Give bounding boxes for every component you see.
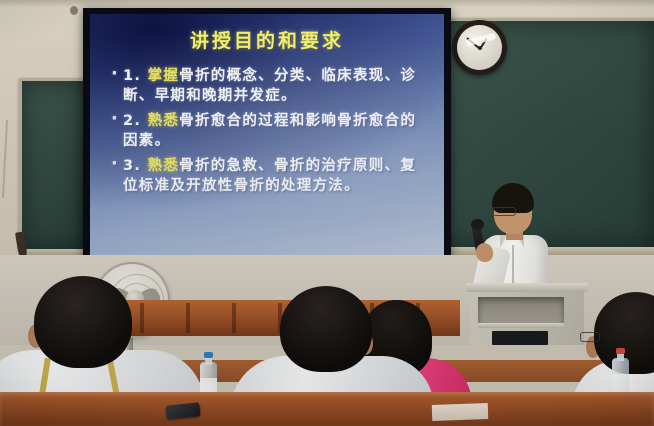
audience-right-glasses [580, 332, 600, 342]
podium [466, 283, 588, 345]
bottle-cap [616, 348, 625, 354]
presentation-slide: 讲授目的和要求 1. 掌握骨折的概念、分类、临床表现、诊断、早期和晚期并发症。 … [90, 14, 444, 258]
slide-bullet-1: 1. 掌握骨折的概念、分类、临床表现、诊断、早期和晚期并发症。 [109, 66, 429, 106]
laptop [492, 331, 548, 345]
podium-top [466, 283, 588, 292]
audience-left-hair [34, 276, 132, 368]
bullet-3-highlight: 熟悉 [148, 158, 180, 174]
chalkboard-left [19, 78, 88, 252]
bullet-3-number: 3. [123, 158, 141, 174]
paper-sheet [432, 403, 489, 421]
wall-fixture [70, 6, 78, 15]
audience-center-hair [280, 286, 372, 372]
lecturer-glasses [492, 207, 516, 216]
projection-screen: 讲授目的和要求 1. 掌握骨折的概念、分类、临床表现、诊断、早期和晚期并发症。 … [83, 8, 451, 264]
bullet-2-number: 2. [123, 113, 141, 129]
microphone-head [471, 219, 484, 230]
ceiling-trim [0, 0, 654, 7]
slide-title: 讲授目的和要求 [90, 32, 444, 51]
clock-face [457, 25, 502, 70]
bench-slat [232, 303, 236, 333]
bullet-1-number: 1. [123, 68, 141, 84]
podium-shelf-lip [478, 323, 564, 328]
bottle-label [612, 374, 629, 392]
desk-row-front [0, 392, 654, 426]
bottle-cap [204, 352, 213, 358]
bullet-2-highlight: 熟悉 [148, 113, 180, 129]
slide-bullet-2: 2. 熟悉骨折愈合的过程和影响骨折愈合的因素。 [109, 111, 429, 151]
lecture-hall-photo: 讲授目的和要求 1. 掌握骨折的概念、分类、临床表现、诊断、早期和晚期并发症。 … [0, 0, 654, 426]
slide-bullet-list: 1. 掌握骨折的概念、分类、临床表现、诊断、早期和晚期并发症。 2. 熟悉骨折愈… [109, 66, 429, 201]
clock-center-pin [478, 46, 482, 50]
bullet-1-highlight: 掌握 [148, 68, 180, 84]
wall-clock [452, 20, 507, 75]
slide-bullet-3: 3. 熟悉骨折的急救、骨折的治疗原则、复位标准及开放性骨折的处理方法。 [109, 156, 429, 196]
